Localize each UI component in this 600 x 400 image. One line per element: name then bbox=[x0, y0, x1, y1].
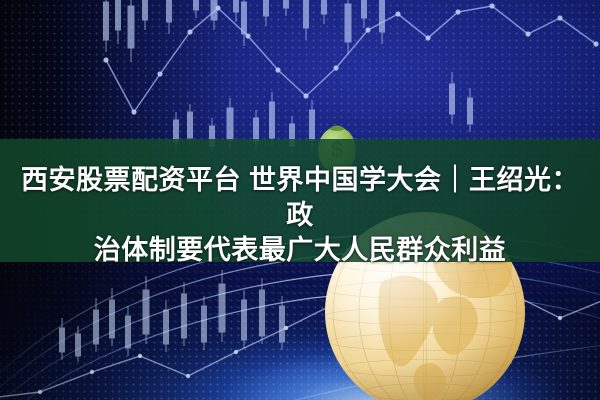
title-line-2: 治体制要代表最广大人民群众利益 bbox=[94, 235, 507, 265]
page-title: 西安股票配资平台 世界中国学大会｜王绍光：政 治体制要代表最广大人民群众利益 bbox=[0, 163, 600, 268]
banner-image: $ 西安股票配资平台 世界中国学大会｜王绍光：政 治体制要代 bbox=[0, 0, 600, 400]
title-band: 西安股票配资平台 世界中国学大会｜王绍光：政 治体制要代表最广大人民群众利益 bbox=[0, 139, 600, 262]
title-line-1: 西安股票配资平台 世界中国学大会｜王绍光：政 bbox=[21, 165, 579, 230]
